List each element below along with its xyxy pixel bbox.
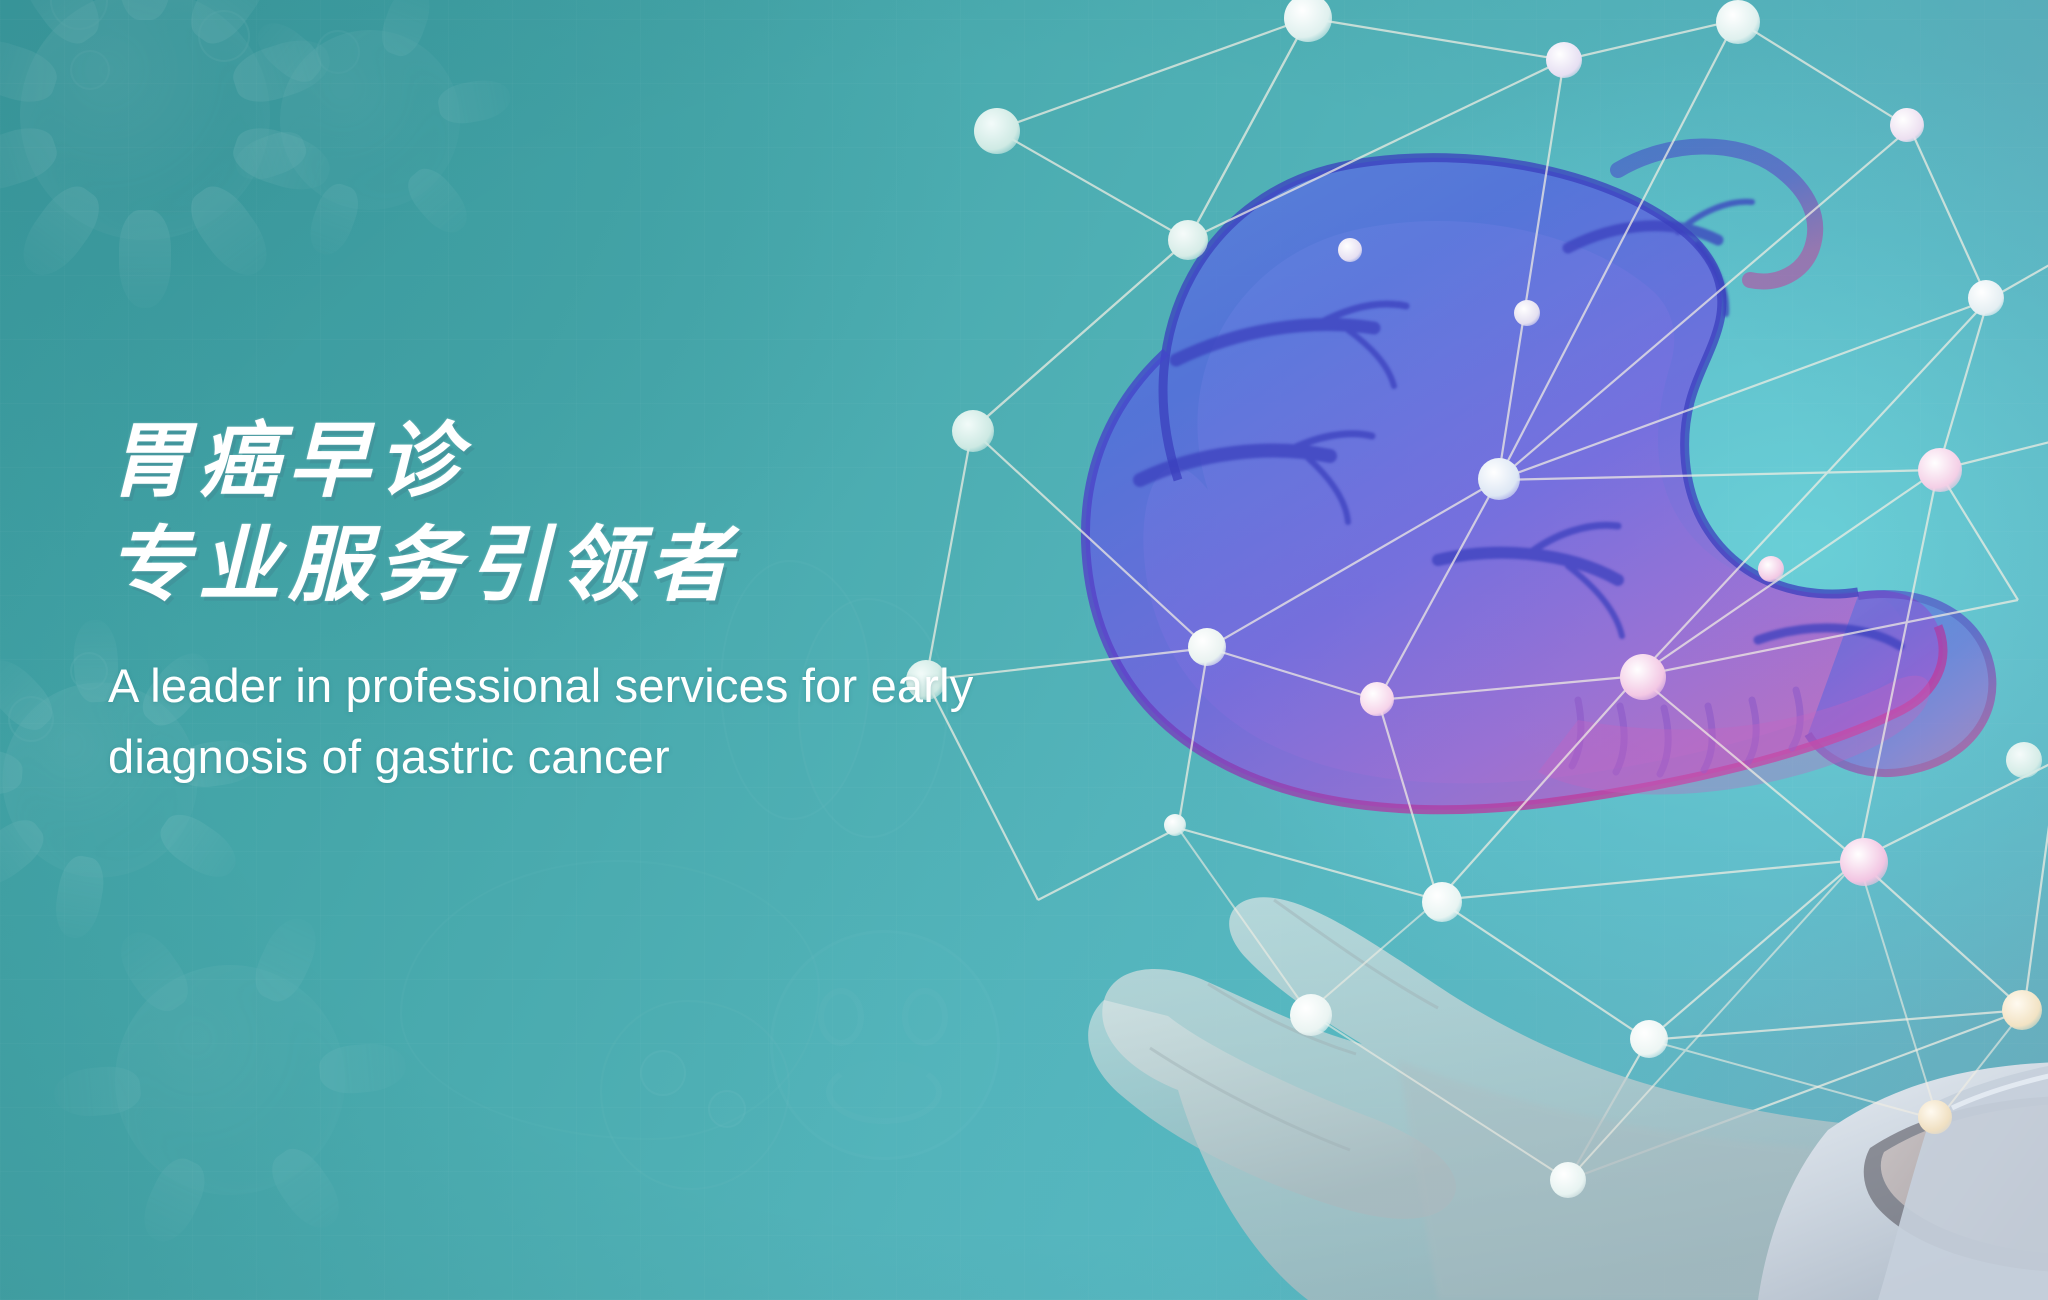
hero-banner: 胃癌早诊 专业服务引领者 A leader in professional se…: [0, 0, 2048, 1300]
hero-text-block: 胃癌早诊 专业服务引领者 A leader in professional se…: [108, 414, 1108, 792]
subtitle-english: A leader in professional services for ea…: [108, 650, 1108, 792]
headline-chinese-line-1: 胃癌早诊: [108, 414, 1108, 510]
headline-chinese-line-2: 专业服务引领者: [108, 518, 1108, 614]
cell-blob-motif: [600, 1000, 790, 1190]
virus-cell-motif: [0, 0, 360, 330]
bacteria-motif: [30, 880, 430, 1280]
lab-coat-sleeve: [1758, 1062, 2048, 1300]
cell-blob-motif: [400, 860, 820, 1160]
virus-cell-motif: [220, 0, 520, 270]
